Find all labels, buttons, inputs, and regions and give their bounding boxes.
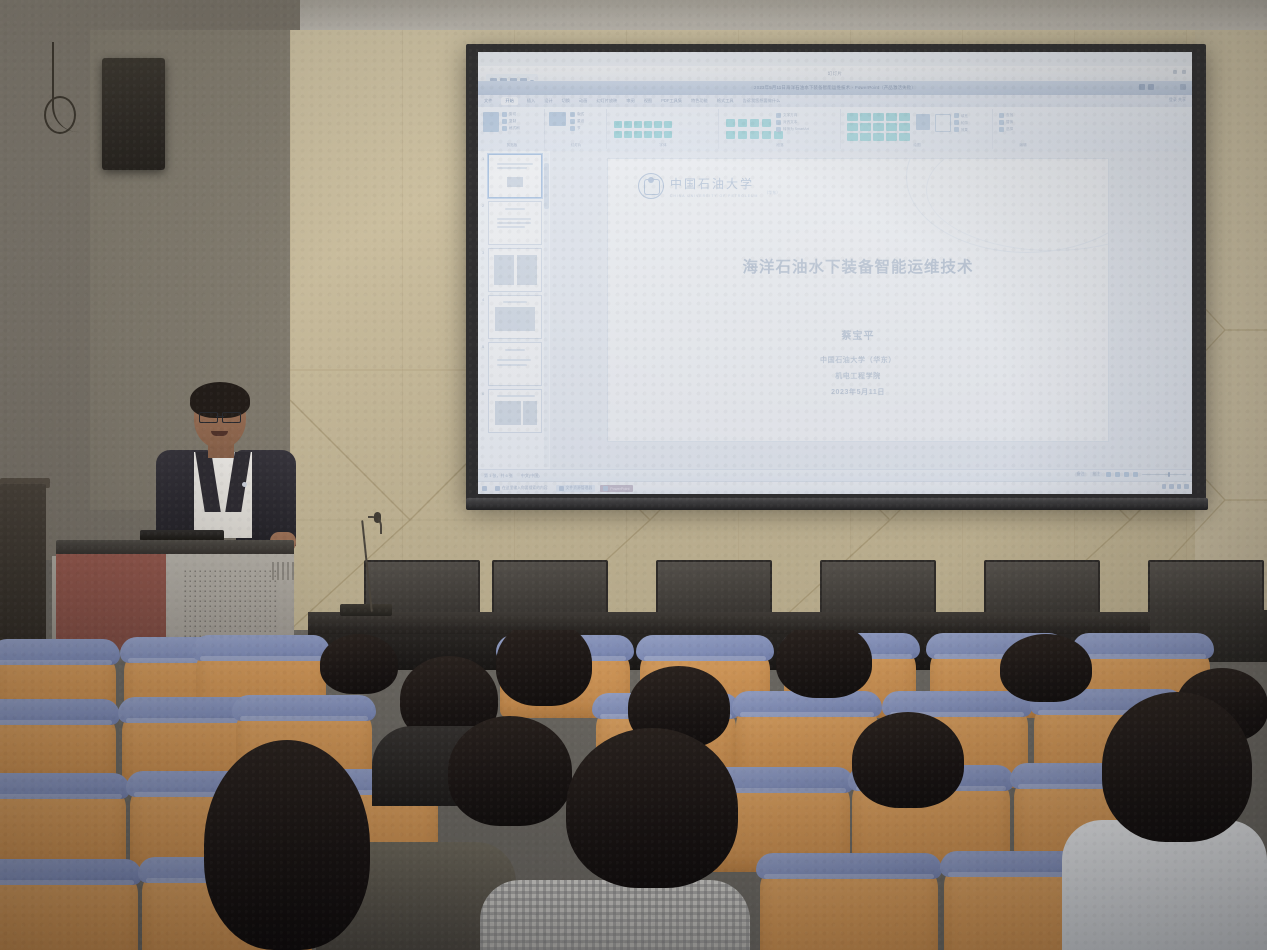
align-left-icon [726, 131, 735, 139]
slide-position-status: 第 1 张，共 6 张 [484, 473, 513, 479]
numbering-icon [738, 119, 747, 127]
slide-thumbnail[interactable]: 3 [488, 248, 542, 292]
top-strip-buttons[interactable] [1173, 70, 1186, 74]
status-bar-right[interactable]: 备注 批注 68% [1075, 472, 1192, 477]
shape-fill-icon[interactable] [954, 113, 959, 118]
slide-number: 2 [482, 203, 484, 208]
audience-head [566, 728, 738, 888]
eyeglasses-icon [199, 412, 241, 421]
comments-button[interactable]: 批注 [1090, 472, 1102, 477]
taskbar-search[interactable]: 在这里输入你要搜索的内容 [492, 485, 551, 492]
microphone-capsule [374, 512, 381, 523]
presenter-mouth [211, 431, 228, 436]
head-chair [984, 560, 1100, 616]
head-chair [820, 560, 936, 616]
bullets-icon [726, 119, 735, 127]
ribbon-tab-features[interactable]: 特色功能 [691, 98, 708, 104]
justify-icon [762, 131, 771, 139]
projection-screen: 幻灯片 2023年5月11日海洋石油水下装备智能运维技术 - PowerPoin… [466, 44, 1206, 506]
audience-shoulders [480, 880, 750, 950]
slide-affiliation-1: 中国石油大学（华东） [608, 355, 1108, 365]
format-painter-icon[interactable] [502, 126, 507, 131]
language-status[interactable]: 中文(中国) [521, 473, 540, 479]
align-right-icon [750, 131, 759, 139]
shape-icon [860, 113, 871, 121]
ribbon-tab-home[interactable]: 开始 [501, 97, 517, 105]
slide-date: 2023年5月11日 [608, 387, 1108, 397]
volume-icon[interactable] [1177, 484, 1182, 489]
shape-icon [873, 123, 884, 131]
group-label-drawing: 绘图 [842, 143, 992, 148]
zoom-level[interactable]: 68% [1190, 472, 1192, 477]
audience-head [448, 716, 572, 826]
zoom-slider[interactable] [1142, 474, 1186, 476]
cut-icon[interactable] [502, 112, 507, 117]
find-label: 查找 [1006, 113, 1013, 118]
maximize-icon[interactable] [1148, 84, 1154, 90]
select-label: 选择 [1006, 127, 1013, 132]
slide-number: 6 [482, 391, 484, 396]
font-swatch [614, 121, 622, 128]
shape-icon [847, 133, 858, 141]
indent-icon [750, 119, 759, 127]
folder-icon[interactable] [559, 486, 564, 491]
slide-number: 3 [482, 250, 484, 255]
ribbon-tab-file[interactable]: 文件 [484, 98, 492, 104]
ribbon-tab-animations[interactable]: 动画 [579, 98, 587, 104]
lecture-hall-photo: 幻灯片 2023年5月11日海洋石油水下装备智能运维技术 - PowerPoin… [0, 0, 1267, 950]
slide-thumbnail[interactable]: 2 [488, 201, 542, 245]
smartart-icon[interactable] [776, 127, 781, 132]
speaker-cable-coil [44, 96, 76, 134]
quick-styles-icon[interactable] [935, 114, 951, 132]
microphone-base [340, 604, 392, 616]
lapel-pin [242, 482, 247, 487]
audience-head [852, 712, 964, 808]
view-normal-icon[interactable] [1106, 472, 1111, 477]
shape-effects-icon[interactable] [954, 127, 959, 132]
slide-author: 蔡宝平 [608, 327, 1108, 342]
shape-outline-icon[interactable] [954, 120, 959, 125]
audience-head [320, 634, 398, 694]
outdent-icon [762, 119, 771, 127]
format-painter-label: 格式刷 [509, 126, 520, 131]
shape-icon [886, 133, 897, 141]
audience-head [496, 630, 592, 706]
start-icon[interactable] [482, 486, 487, 491]
new-slide-icon[interactable] [549, 112, 566, 126]
wall-speaker [102, 58, 165, 170]
minimize-icon[interactable] [1139, 84, 1145, 90]
ribbon-group-editing[interactable]: 查找 替换 选择 编辑 [994, 109, 1052, 149]
shape-icon [886, 123, 897, 131]
slide-editing-area[interactable]: 中国石油大学 CHINA UNIVERSITY OF PETROLEUM （华东… [550, 151, 1192, 469]
ribbon-signin-share[interactable]: 登录 共享 [1169, 97, 1186, 103]
window-top-strip: 幻灯片 [478, 66, 1192, 82]
slide-thumbnail[interactable]: 4 [488, 295, 542, 339]
audience-head [776, 630, 872, 698]
font-swatch [644, 131, 652, 138]
logo-campus-suffix: （华东） [764, 190, 780, 196]
shape-icon [860, 133, 871, 141]
font-swatch [614, 131, 622, 138]
top-strip-title: 幻灯片 [828, 71, 842, 77]
search-icon[interactable] [495, 486, 500, 491]
taskbar-item-explorer[interactable]: 文件资源管理器 [556, 485, 596, 492]
view-slideshow-icon[interactable] [1133, 472, 1138, 477]
shape-icon [860, 123, 871, 131]
font-swatch [634, 121, 642, 128]
text-direction-label: 文字方向 [783, 113, 797, 118]
audience-head [1000, 634, 1092, 702]
ribbon-group-clipboard[interactable]: 剪切 复制 格式刷 剪贴板 [480, 109, 545, 149]
smartart-label: 转换为 SmartArt [783, 127, 809, 132]
font-swatch [654, 121, 662, 128]
font-swatch [634, 131, 642, 138]
network-icon[interactable] [1169, 484, 1174, 489]
gooseneck-microphone [352, 508, 382, 614]
head-chair [1148, 560, 1264, 616]
head-chair [656, 560, 772, 616]
slide-number: 1 [482, 156, 484, 161]
slide-thumbnail[interactable]: 6 [488, 389, 542, 433]
taskbar-powerpoint-label: PowerPoint [610, 487, 629, 491]
group-label-editing: 编辑 [994, 143, 1052, 148]
shape-icon [886, 113, 897, 121]
ribbon-group-slides[interactable]: 版式 重设 节 幻灯片 [546, 109, 607, 149]
shape-icon [873, 113, 884, 121]
font-swatch [644, 121, 652, 128]
ribbon-tab-slideshow[interactable]: 幻灯片放映 [596, 98, 617, 104]
system-tray[interactable] [1162, 484, 1193, 489]
document-title: 2023年5月11日海洋石油水下装备智能运维技术 - PowerPoint（产品… [754, 85, 916, 91]
shape-icon [899, 113, 910, 121]
ribbon-tab-insert[interactable]: 插入 [527, 98, 535, 104]
logo-english-name: CHINA UNIVERSITY OF PETROLEUM [670, 194, 758, 198]
find-icon[interactable] [999, 113, 1004, 118]
reset-label: 重设 [577, 119, 584, 124]
windows-taskbar[interactable]: 在这里输入你要搜索的内容 文件资源管理器 PowerPoint [478, 481, 1192, 494]
font-swatch [654, 131, 662, 138]
section-icon[interactable] [570, 126, 575, 131]
audience-head [204, 740, 370, 950]
powerpoint-icon[interactable] [603, 486, 608, 491]
logo-chinese-name: 中国石油大学 [670, 175, 758, 192]
align-text-label: 对齐文本 [783, 120, 797, 125]
section-label: 节 [577, 126, 581, 131]
podium-top [56, 540, 294, 554]
text-direction-icon[interactable] [776, 113, 781, 118]
notes-button[interactable]: 备注 [1075, 472, 1087, 477]
thumbnail-scrollbar[interactable] [544, 153, 549, 467]
font-swatch [664, 131, 672, 138]
ribbon-tab-tell-me[interactable]: 告诉我您想要做什么 [743, 98, 781, 104]
ribbon-tab-design[interactable]: 设计 [544, 98, 552, 104]
shape-icon [847, 123, 858, 131]
slide-affiliation-2: 机电工程学院 [608, 371, 1108, 381]
university-logo: 中国石油大学 CHINA UNIVERSITY OF PETROLEUM （华东… [638, 173, 780, 199]
align-text-icon[interactable] [776, 120, 781, 125]
audience-seating [0, 630, 1267, 950]
group-label-paragraph: 段落 [720, 143, 840, 148]
ribbon-body[interactable]: 剪切 复制 格式刷 剪贴板 版式 重设 节 幻灯片 [478, 107, 1192, 152]
cut-label: 剪切 [509, 112, 516, 117]
close-icon[interactable] [1180, 84, 1186, 90]
replace-icon[interactable] [999, 120, 1004, 125]
view-sorter-icon[interactable] [1115, 472, 1120, 477]
slide-number: 5 [482, 344, 484, 349]
taskbar-search-label: 在这里输入你要搜索的内容 [502, 486, 548, 491]
ribbon-group-font[interactable]: 字体 [608, 109, 719, 149]
slide-thumbnail[interactable]: 1 [488, 154, 542, 198]
ribbon-group-paragraph[interactable]: 文字方向 对齐文本 转换为 SmartArt 段落 [720, 109, 841, 149]
projection-surface: 幻灯片 2023年5月11日海洋石油水下装备智能运维技术 - PowerPoin… [478, 52, 1192, 494]
taskbar-explorer-label: 文件资源管理器 [566, 486, 593, 491]
auditorium-seat [0, 868, 138, 950]
font-swatch [624, 131, 632, 138]
screen-roller-bar [466, 498, 1208, 510]
tray-chevron-icon[interactable] [1162, 484, 1167, 489]
ribbon-group-drawing[interactable]: 填充 轮廓 效果 绘图 [842, 109, 993, 149]
ribbon-tab-format-tools[interactable]: 格式工具 [717, 98, 734, 104]
current-slide[interactable]: 中国石油大学 CHINA UNIVERSITY OF PETROLEUM （华东… [608, 159, 1108, 441]
slide-thumbnail-pane[interactable]: 1 2 3 [478, 151, 551, 469]
slide-number: 4 [482, 297, 484, 302]
layout-label: 版式 [577, 112, 584, 117]
group-label-clipboard: 剪贴板 [480, 143, 544, 148]
font-swatch [664, 121, 672, 128]
align-center-icon [738, 131, 747, 139]
podium-vent-slots [272, 562, 294, 580]
head-chair [492, 560, 608, 616]
shape-icon [899, 133, 910, 141]
auditorium-seat [760, 862, 938, 950]
ribbon-tab-view[interactable]: 视图 [644, 98, 652, 104]
view-reading-icon[interactable] [1124, 472, 1129, 477]
shape-icon [847, 113, 858, 121]
reset-icon[interactable] [570, 119, 575, 124]
shape-icon [873, 133, 884, 141]
ime-icon[interactable] [1184, 484, 1189, 489]
university-emblem-icon [638, 173, 664, 199]
select-icon[interactable] [999, 127, 1004, 132]
font-swatch [624, 121, 632, 128]
audience-head [1102, 692, 1252, 842]
slide-thumbnail[interactable]: 5 [488, 342, 542, 386]
copy-icon[interactable] [502, 119, 507, 124]
replace-label: 替换 [1006, 120, 1013, 125]
ribbon-tab-review[interactable]: 审阅 [626, 98, 634, 104]
ribbon-tab-pdf-tools[interactable]: PDF工具集 [661, 98, 682, 104]
window-controls[interactable] [1139, 84, 1154, 90]
slide-title: 海洋石油水下装备智能运维技术 [608, 255, 1108, 277]
title-bar: 2023年5月11日海洋石油水下装备智能运维技术 - PowerPoint（产品… [478, 81, 1192, 95]
copy-label: 复制 [509, 119, 516, 124]
taskbar-item-powerpoint[interactable]: PowerPoint [600, 485, 632, 492]
arrange-icon[interactable] [916, 114, 930, 130]
shape-icon [899, 123, 910, 131]
clock-icon[interactable] [1192, 484, 1193, 489]
powerpoint-window[interactable]: 幻灯片 2023年5月11日海洋石油水下装备智能运维技术 - PowerPoin… [478, 52, 1192, 494]
group-label-slides: 幻灯片 [546, 143, 606, 148]
group-label-font: 字体 [608, 143, 718, 148]
paste-icon[interactable] [483, 112, 499, 132]
ribbon-tab-transitions[interactable]: 切换 [562, 98, 570, 104]
layout-icon[interactable] [570, 112, 575, 117]
